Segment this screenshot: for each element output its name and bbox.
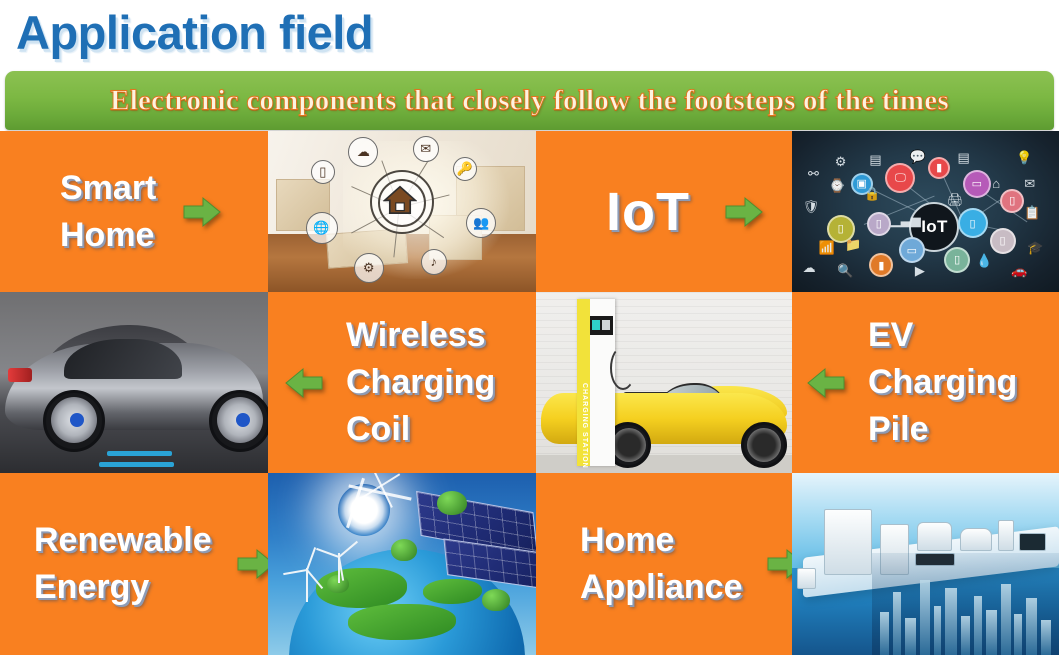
droplet-icon: 💧: [976, 253, 992, 269]
media-icon: ▶: [915, 263, 925, 279]
mail-icon: ✉: [413, 136, 439, 162]
label-home-appliance: Home Appliance: [580, 517, 742, 611]
watch-icon: ⌚: [829, 178, 845, 194]
label-smart-home: Smart Home: [60, 165, 156, 259]
microwave-icon: [960, 528, 992, 552]
arrow-left-icon: [806, 366, 846, 400]
home-appliance-photo: [792, 473, 1059, 655]
home-icon: ⌂: [992, 176, 1000, 191]
cell-wireless-charging-coil[interactable]: Wireless Charging Coil: [268, 292, 536, 473]
label-iot: IoT: [606, 182, 690, 242]
silver-car-photo: [0, 292, 268, 473]
range-hood-icon: [917, 522, 952, 551]
dishwasher-icon: [1019, 533, 1046, 551]
arrow-right-icon: [766, 547, 792, 581]
plug-icon: ⚯: [808, 166, 819, 182]
shield-icon: 🛡: [803, 199, 820, 215]
cell-renewable-image: [268, 473, 536, 655]
wireless-charging-pad: [107, 451, 171, 456]
house-icon: [383, 184, 417, 215]
arrow-right-icon: [236, 547, 268, 581]
gears-icon: ⚙: [835, 154, 847, 170]
label-ev-charging-pile: EV Charging Pile: [868, 312, 1017, 453]
microwave-icon: ▤: [958, 150, 970, 166]
battery-node-icon: ▮: [928, 157, 950, 179]
laptop-node-icon: ▭: [963, 170, 991, 198]
music-icon: ♪: [421, 249, 447, 275]
bulb-icon: 💡: [1016, 150, 1032, 166]
cell-iot-image: IoT 🖵 ▣ ▮ ▭ ▯ ▯ ▯ ▭ ▯ ▮ ▯ ▯ ⚯ ⚙ ▤ 💬 ▤: [792, 131, 1059, 292]
gear-icon: ⚙: [354, 253, 384, 283]
arrow-right-icon: [182, 195, 222, 229]
ev-charging-photo: CHARGING STATION: [536, 292, 792, 473]
charging-station-display: [590, 316, 613, 336]
cell-smart-home-image: ☁ ✉ 🔑 👥 ♪ ⚙ 🌐 ▯: [268, 131, 536, 292]
padlock-icon: 🔒: [864, 186, 880, 202]
car-icon: 🚗: [1011, 263, 1027, 279]
cityscape: [872, 553, 1059, 655]
cell-smart-home[interactable]: Smart Home: [0, 131, 268, 292]
arrow-right-icon: [724, 195, 764, 229]
lock-icon: 🔑: [453, 157, 477, 181]
clipboard-icon: 📋: [1024, 205, 1040, 221]
search-icon: 🔍: [837, 263, 853, 279]
smartphone-node-icon: ▯: [958, 208, 988, 238]
cell-home-appliance[interactable]: Home Appliance: [536, 473, 792, 655]
small-appliance-icon: [797, 568, 816, 590]
wifi-icon: 📶: [819, 240, 835, 256]
application-grid: Smart Home: [0, 131, 1059, 655]
wireless-charging-pad: [99, 462, 174, 467]
display-node-icon: ▭: [899, 237, 925, 263]
page-title: Application field: [16, 2, 373, 64]
oven-icon: [998, 520, 1014, 551]
envelope-icon: ✉: [1024, 176, 1035, 192]
power-node-icon: ▮: [869, 253, 893, 277]
charging-station-label: CHARGING STATION: [581, 383, 588, 469]
refrigerator-icon: [824, 509, 872, 575]
fridge-node-icon: ▯: [990, 228, 1016, 254]
application-field-slide: Application field Electronic components …: [0, 0, 1059, 655]
cell-appliance-image: [792, 473, 1059, 655]
arrow-left-icon: [284, 366, 324, 400]
chart-icon: ▁▃▅: [891, 212, 921, 228]
server-icon: ▤: [869, 152, 881, 168]
tagline-text: Electronic components that closely follo…: [5, 84, 1054, 117]
renewable-energy-photo: [268, 473, 536, 655]
tablet-node-icon: ▯: [867, 212, 891, 236]
iot-network-photo: IoT 🖵 ▣ ▮ ▭ ▯ ▯ ▯ ▭ ▯ ▮ ▯ ▯ ⚯ ⚙ ▤ 💬 ▤: [792, 131, 1059, 292]
cell-wireless-car-image: [0, 292, 268, 473]
cell-ev-car-image: CHARGING STATION: [536, 292, 792, 473]
cell-renewable-energy[interactable]: Renewable Energy: [0, 473, 268, 655]
cell-iot[interactable]: IoT: [536, 131, 792, 292]
door-node-icon: ▯: [1000, 189, 1024, 213]
folder-icon: 📁: [845, 237, 861, 253]
chat-icon: 💬: [909, 149, 925, 165]
device-node-icon: ▯: [944, 247, 970, 273]
label-renewable-energy: Renewable Energy: [34, 517, 212, 611]
smart-home-photo: ☁ ✉ 🔑 👥 ♪ ⚙ 🌐 ▯: [268, 131, 536, 292]
graduation-icon: 🎓: [1027, 240, 1043, 256]
printer-icon: 🖨: [947, 192, 964, 208]
globe-icon: 🌐: [306, 212, 338, 244]
cell-ev-charging-pile[interactable]: EV Charging Pile: [792, 292, 1059, 473]
cloud-icon: ☁: [803, 260, 816, 276]
tagline-banner: Electronic components that closely follo…: [5, 71, 1054, 130]
label-wireless-charging-coil: Wireless Charging Coil: [346, 312, 495, 453]
device-icon: ▯: [311, 160, 335, 184]
